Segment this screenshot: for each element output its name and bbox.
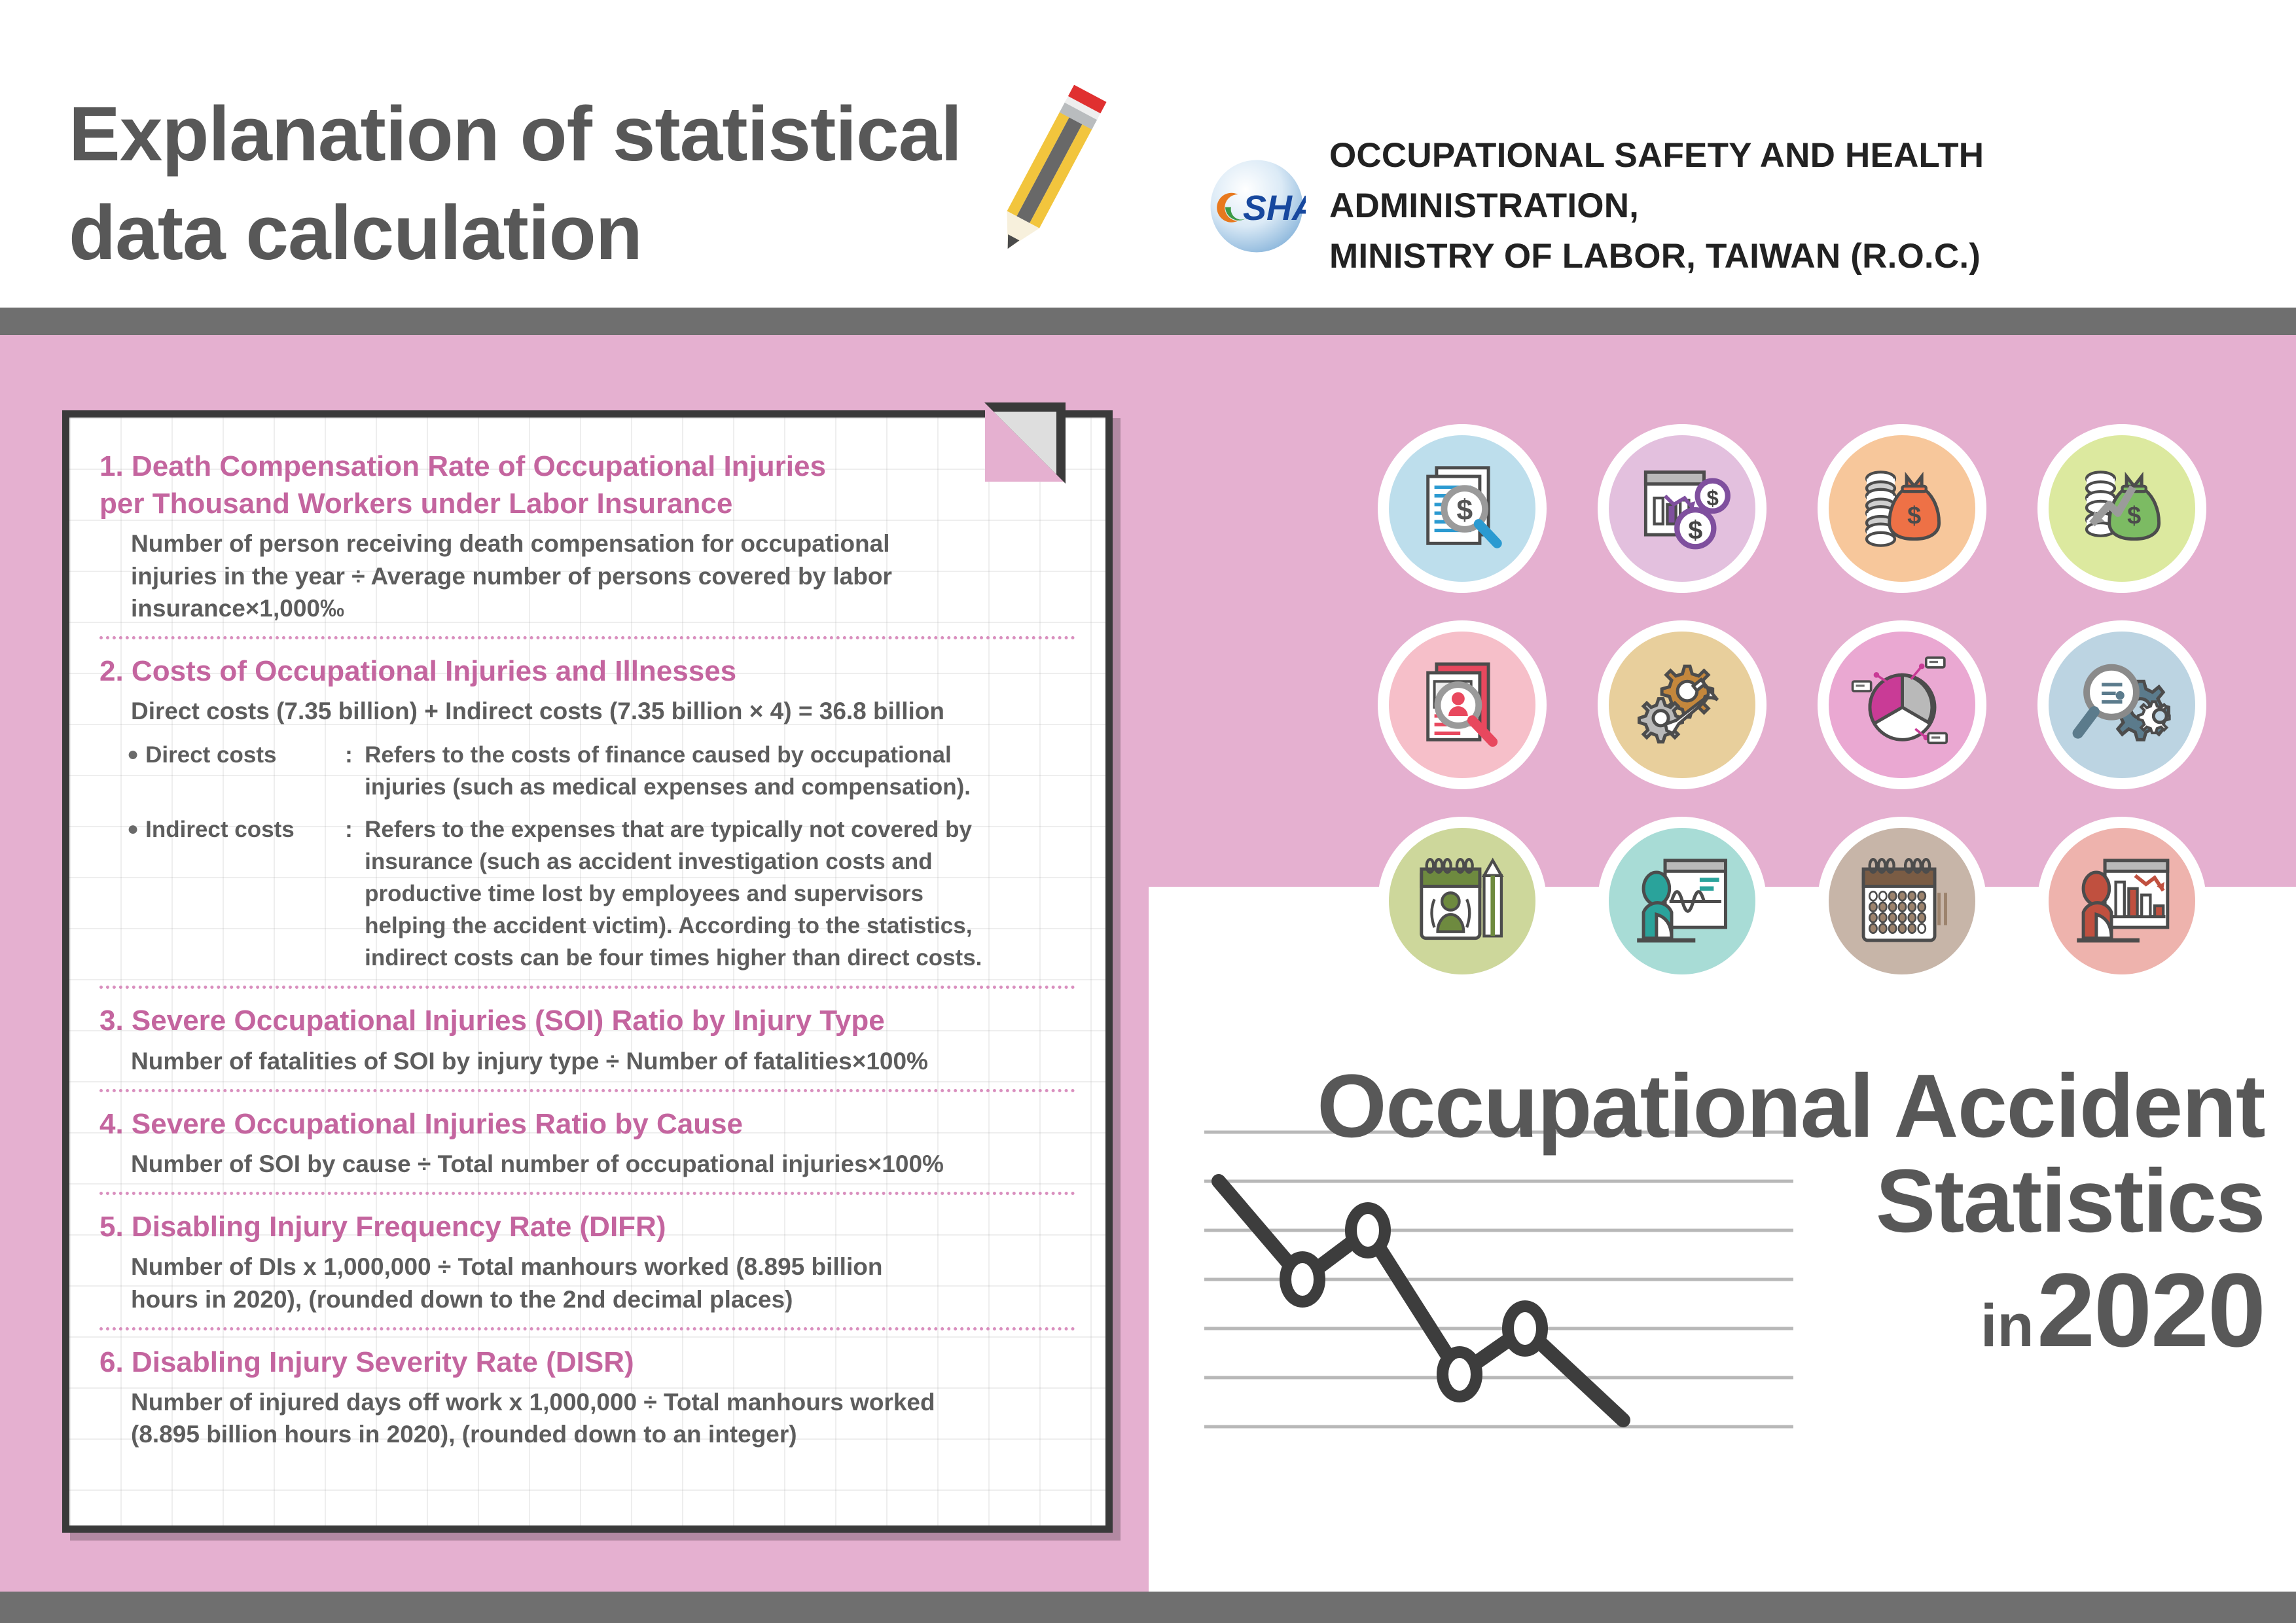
magnifier-gears-report-icon [2068, 651, 2176, 759]
icon-background: $ [2049, 435, 2195, 582]
section-title: 4. Severe Occupational Injuries Ratio by… [99, 1105, 1075, 1143]
section-body: Number of injured days off work x 1,000,… [131, 1386, 1075, 1450]
section-body: Number of SOI by cause ÷ Total number of… [131, 1148, 1075, 1180]
icon-background [1389, 632, 1535, 778]
formula-section-5: 5. Disabling Injury Frequency Rate (DIFR… [99, 1208, 1075, 1315]
list-item: ● Indirect costs : Refers to the expense… [127, 813, 1075, 974]
section-body: Direct costs (7.35 billion) + Indirect c… [131, 695, 1075, 727]
formula-section-3: 3. Severe Occupational Injuries (SOI) Ra… [99, 1002, 1075, 1077]
formula-section-6: 6. Disabling Injury Severity Rate (DISR)… [99, 1344, 1075, 1451]
calendar-grid-icon [1848, 847, 1956, 955]
icon-cell [2037, 620, 2206, 789]
icon-background: $ $ [1609, 435, 1755, 582]
bullet-label: Indirect costs [145, 813, 345, 846]
section-body: Number of DIs x 1,000,000 ÷ Total manhou… [131, 1251, 1075, 1315]
bullet-label: Direct costs [145, 739, 345, 771]
section-divider [99, 1192, 1075, 1195]
svg-text:SHA: SHA [1243, 188, 1306, 228]
icon-grid: $ $ $ [1378, 424, 2206, 986]
header: Explanation of statistical data calculat… [0, 0, 2296, 308]
icon-cell: $ [1818, 424, 1986, 593]
section-divider [99, 636, 1075, 639]
icon-cell [1598, 620, 1767, 789]
divider-bar-bottom [0, 1592, 2296, 1623]
notebook-person-pencil-icon [1408, 847, 1516, 955]
icon-cell [2037, 817, 2206, 986]
icon-background [1389, 828, 1535, 974]
money-bag-declining-arrow-icon: $ [2068, 455, 2176, 563]
osha-logo: SHA [1208, 157, 1306, 255]
icon-cell [1818, 817, 1986, 986]
svg-text:$: $ [1706, 486, 1718, 510]
icon-background [2049, 828, 2195, 974]
bullet-colon: : [345, 813, 365, 846]
section-title: 2. Costs of Occupational Injuries and Il… [99, 652, 1075, 690]
gears-wrench-icon [1628, 651, 1736, 759]
icon-cell: $ [2037, 424, 2206, 593]
svg-text:$: $ [1456, 494, 1473, 526]
icon-background: $ [1389, 435, 1535, 582]
big-title-block: Occupational Accident Statistics in 2020 [1224, 1060, 2265, 1365]
coins-money-bag-icon: $ [1848, 455, 1956, 563]
icon-cell: $ [1378, 424, 1547, 593]
svg-text:$: $ [1688, 516, 1702, 544]
formula-section-2: 2. Costs of Occupational Injuries and Il… [99, 652, 1075, 974]
section-title: 1. Death Compensation Rate of Occupation… [99, 448, 1075, 522]
organization-name: OCCUPATIONAL SAFETY AND HEALTH ADMINISTR… [1329, 131, 2296, 282]
divider-bar-top [0, 308, 2296, 335]
big-title-year: 2020 [2037, 1251, 2265, 1368]
big-title-line-2: Statistics [1224, 1152, 2265, 1251]
bullet-dot-icon: ● [127, 740, 139, 769]
big-title-in-label: in [1981, 1293, 2034, 1359]
presenter-waveform-board-icon [1628, 847, 1736, 955]
svg-text:$: $ [1907, 502, 1921, 529]
presenter-bar-chart-declining-icon [2068, 847, 2176, 955]
section-title: 3. Severe Occupational Injuries (SOI) Ra… [99, 1002, 1075, 1039]
person-record-magnifier-icon [1408, 651, 1516, 759]
big-title-line-3: in 2020 [1224, 1255, 2265, 1365]
bar-chart-declining-coins-icon: $ $ [1628, 455, 1736, 563]
section-title: 6. Disabling Injury Severity Rate (DISR) [99, 1344, 1075, 1381]
bullet-text: Refers to the costs of finance caused by… [365, 739, 971, 803]
page-title: Explanation of statistical data calculat… [69, 85, 961, 283]
big-title-line-1: Occupational Accident [1224, 1060, 2265, 1152]
formula-section-1: 1. Death Compensation Rate of Occupation… [99, 448, 1075, 624]
icon-background: $ [1829, 435, 1975, 582]
section-divider [99, 1089, 1075, 1092]
pencil-icon [952, 85, 1136, 268]
bullet-dot-icon: ● [127, 815, 139, 844]
icon-cell: $ $ [1598, 424, 1767, 593]
icon-background [1829, 828, 1975, 974]
formula-section-4: 4. Severe Occupational Injuries Ratio by… [99, 1105, 1075, 1180]
section-body: Number of fatalities of SOI by injury ty… [131, 1045, 1075, 1077]
formula-note-card: 1. Death Compensation Rate of Occupation… [62, 410, 1113, 1533]
bullet-text: Refers to the expenses that are typicall… [365, 813, 982, 974]
pie-chart-labels-icon [1848, 651, 1956, 759]
section-title: 5. Disabling Injury Frequency Rate (DIFR… [99, 1208, 1075, 1245]
bullet-colon: : [345, 739, 365, 771]
icon-background [1609, 828, 1755, 974]
icon-background [1609, 632, 1755, 778]
icon-cell [1378, 620, 1547, 789]
cost-definitions-list: ● Direct costs : Refers to the costs of … [127, 739, 1075, 974]
icon-background [1829, 632, 1975, 778]
section-divider [99, 1327, 1075, 1330]
list-item: ● Direct costs : Refers to the costs of … [127, 739, 1075, 803]
icon-cell [1598, 817, 1767, 986]
section-body: Number of person receiving death compens… [131, 527, 1075, 624]
icon-cell [1818, 620, 1986, 789]
logo-block: SHA OCCUPATIONAL SAFETY AND HEALTH ADMIN… [1208, 131, 2296, 282]
icon-cell [1378, 817, 1547, 986]
icon-background [2049, 632, 2195, 778]
svg-text:$: $ [2127, 502, 2141, 529]
section-divider [99, 986, 1075, 989]
note-fold-corner-inner [994, 412, 1056, 474]
document-money-magnifier-icon: $ [1408, 455, 1516, 563]
